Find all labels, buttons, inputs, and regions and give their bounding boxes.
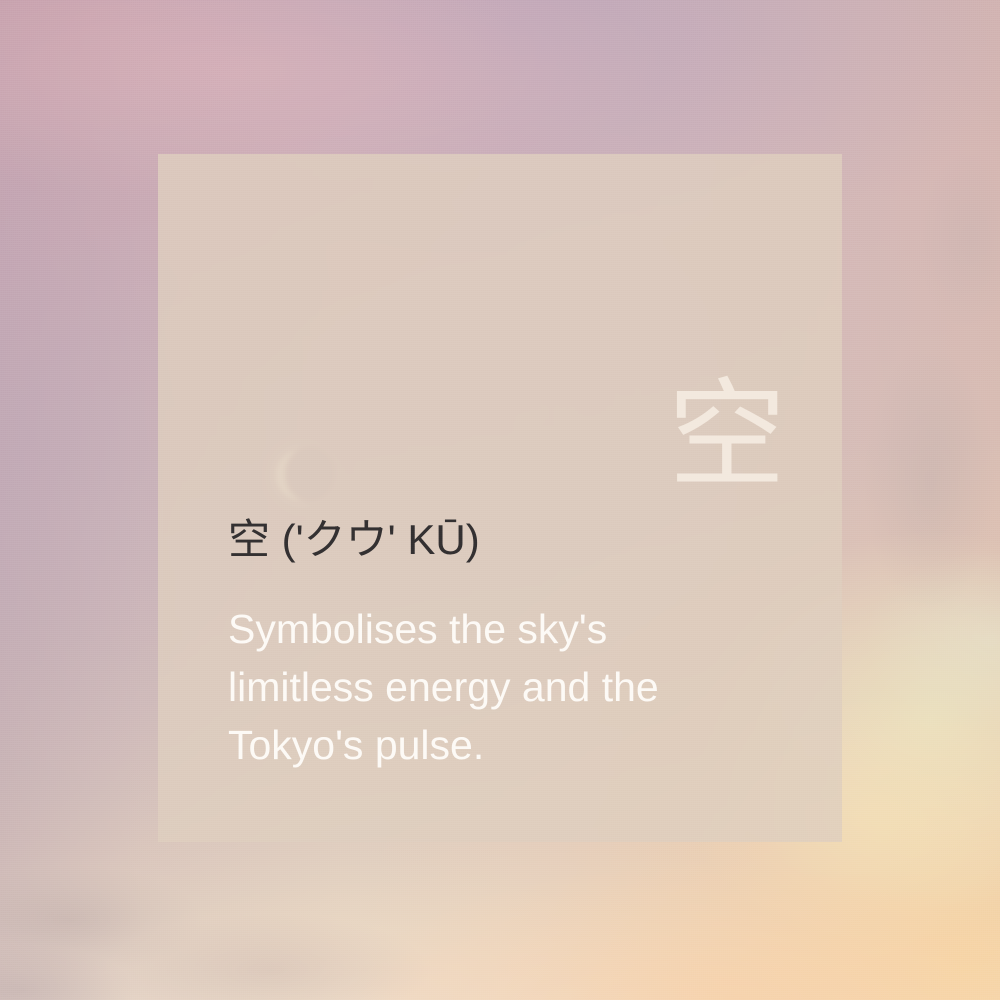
screenshot-canvas: 空 空 ('クウ' KŪ) Symbolises the sky's limit…	[0, 0, 1000, 1000]
kanji-meaning-description: Symbolises the sky's limitless energy an…	[228, 600, 728, 774]
kanji-definition-card: 空 空 ('クウ' KŪ) Symbolises the sky's limit…	[158, 154, 842, 842]
kanji-reading-title: 空 ('クウ' KŪ)	[228, 516, 768, 564]
card-text-block: 空 ('クウ' KŪ) Symbolises the sky's limitle…	[228, 516, 768, 774]
kanji-sky-watermark: 空	[668, 378, 786, 496]
